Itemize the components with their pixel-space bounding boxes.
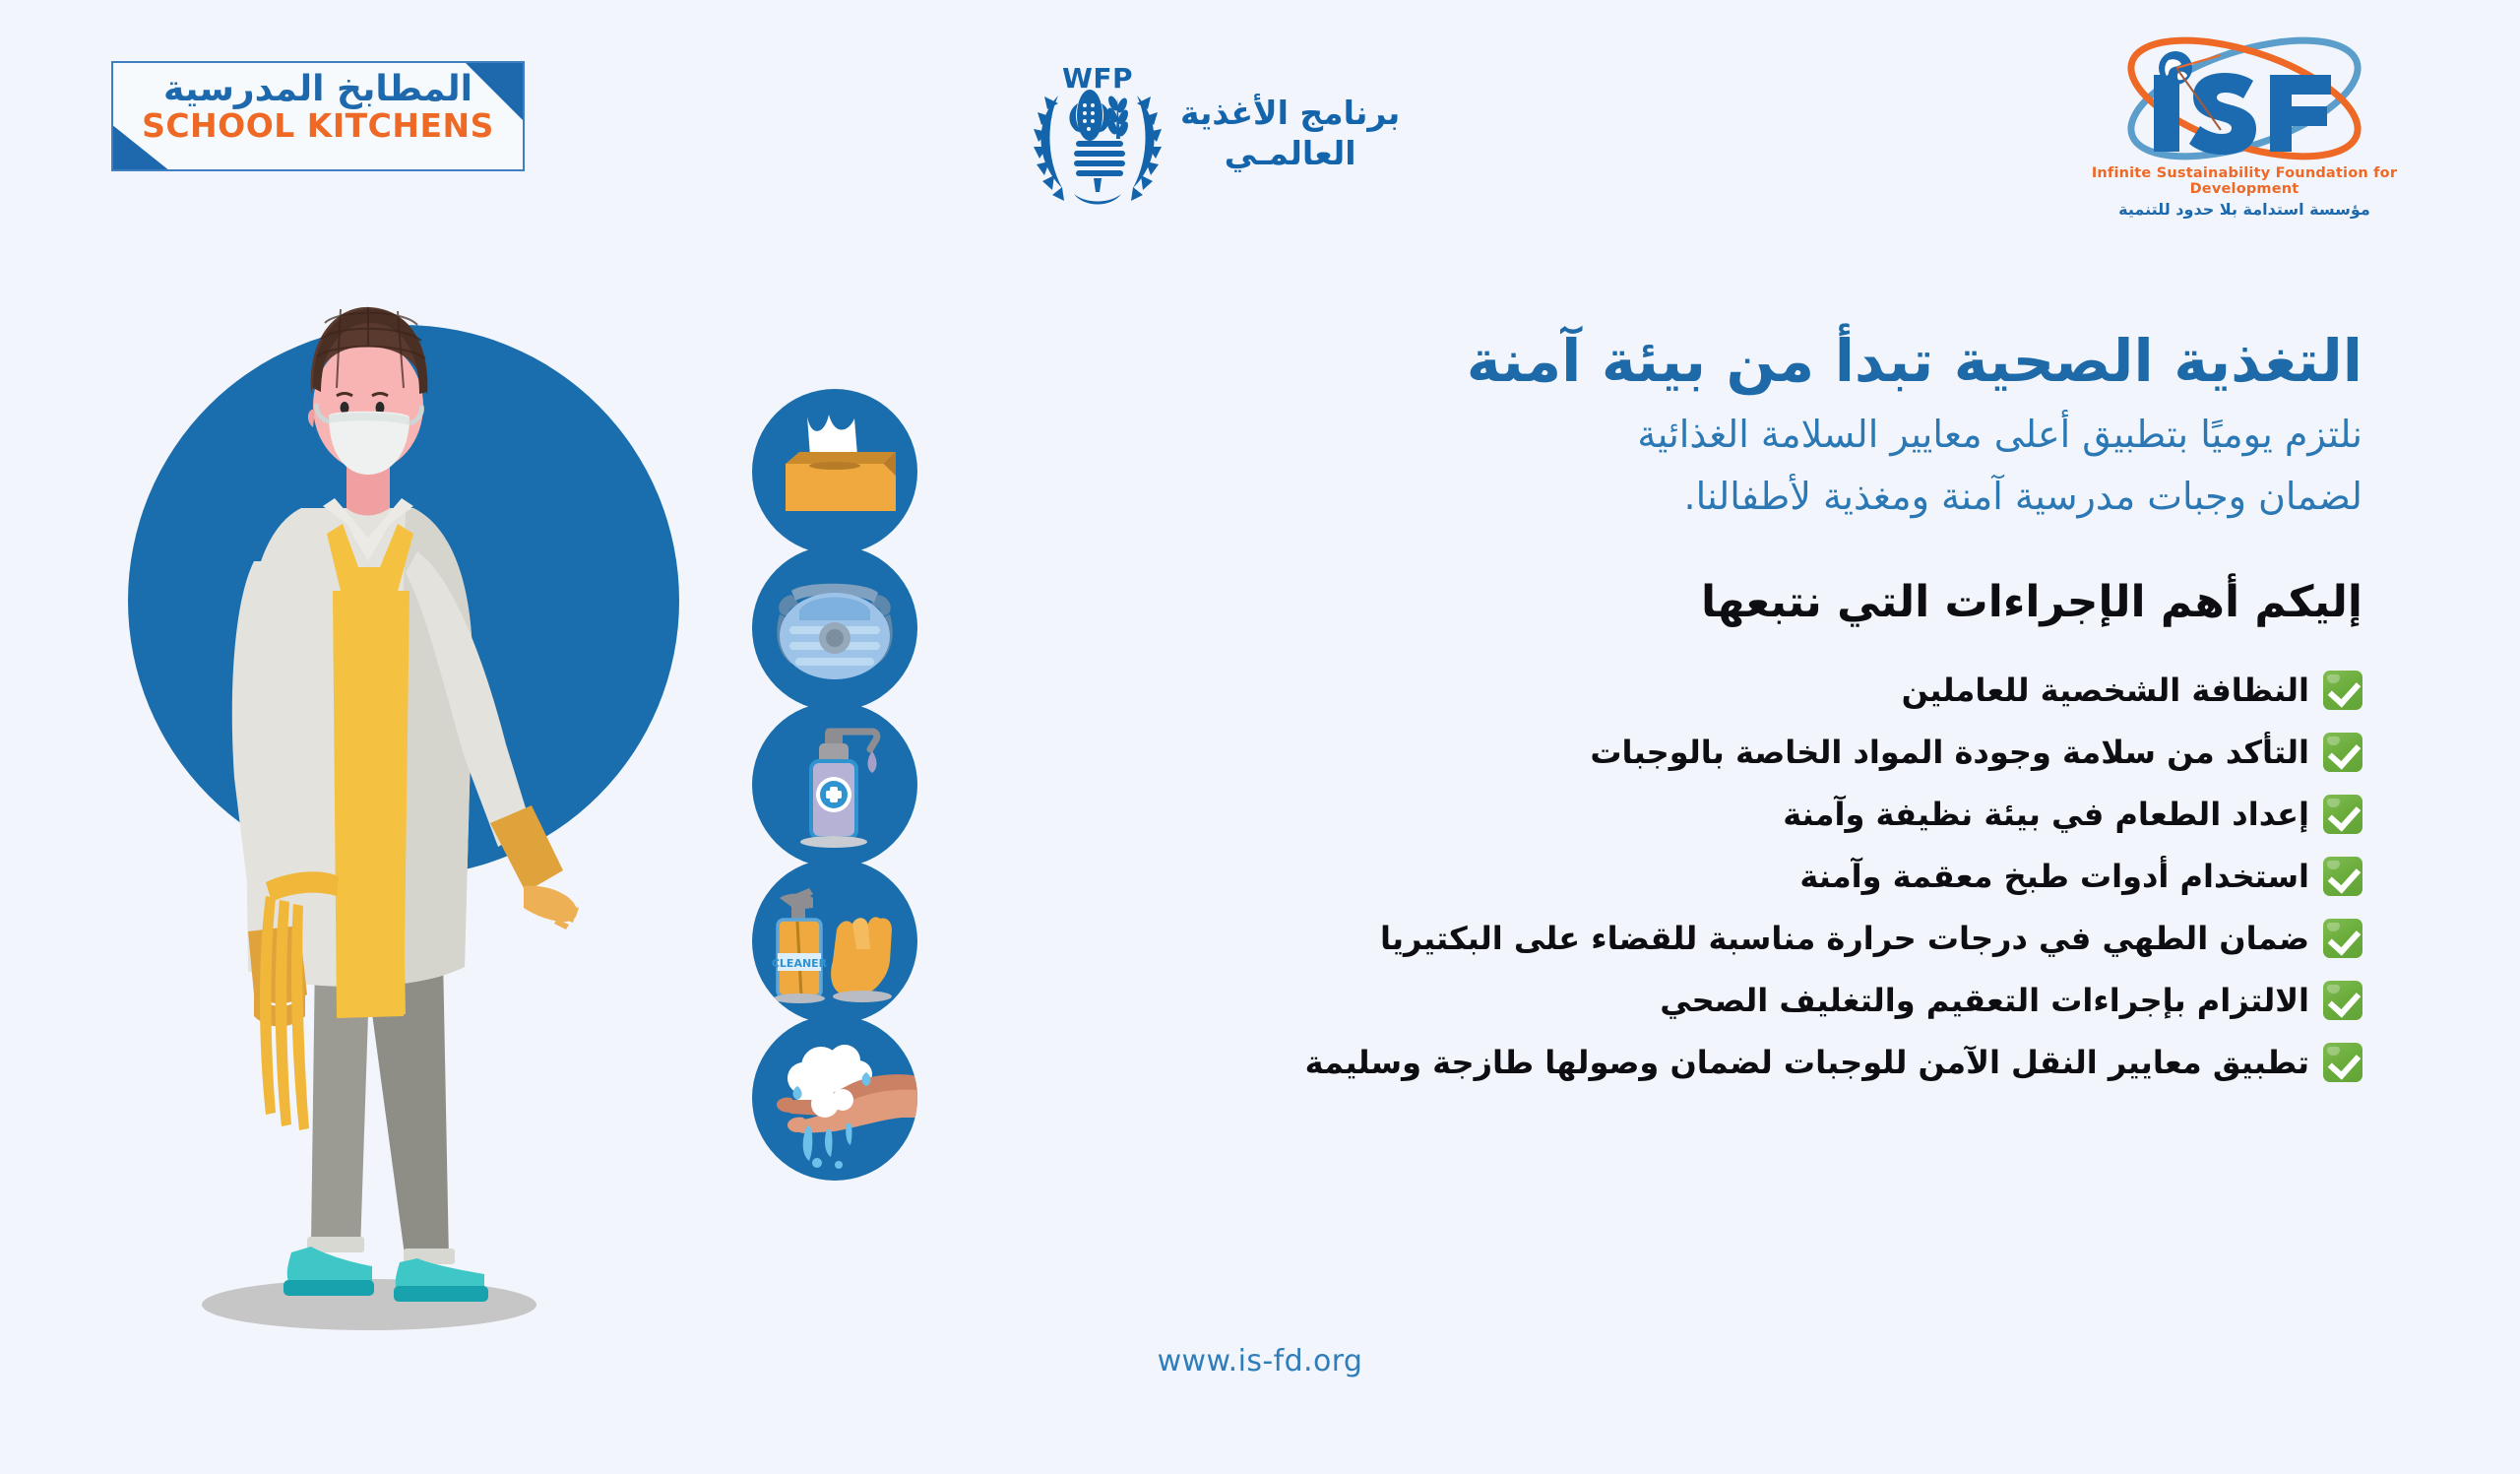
wfp-wordmark: WFP bbox=[1062, 62, 1133, 95]
list-item: تطبيق معايير النقل الآمن للوجبات لضمان و… bbox=[984, 1043, 2362, 1082]
list-item-label: تطبيق معايير النقل الآمن للوجبات لضمان و… bbox=[1305, 1043, 2309, 1082]
list-item-label: الالتزام بإجراءات التعقيم والتغليف الصحي bbox=[1660, 981, 2309, 1020]
check-icon bbox=[2323, 857, 2362, 896]
subtitle-line-2: لضمان وجبات مدرسية آمنة ومغذية لأطفالنا. bbox=[984, 468, 2362, 526]
check-icon bbox=[2323, 733, 2362, 772]
list-item-label: إعداد الطعام في بيئة نظيفة وآمنة bbox=[1783, 795, 2309, 834]
list-item: الالتزام بإجراءات التعقيم والتغليف الصحي bbox=[984, 981, 2362, 1020]
section-title: إليكم أهم الإجراءات التي نتبعها bbox=[984, 577, 2362, 627]
kitchen-worker-illustration bbox=[118, 266, 748, 1349]
school-kitchens-text: المطابخ المدرسية SCHOOL KITCHENS bbox=[113, 63, 523, 144]
wfp-emblem-icon: WFP bbox=[1029, 54, 1166, 212]
wfp-arabic-line-2: العالمـي bbox=[1180, 133, 1400, 173]
school-kitchens-logo: المطابخ المدرسية SCHOOL KITCHENS bbox=[111, 61, 525, 171]
isf-english-tagline: Infinite Sustainability Foundation for D… bbox=[2077, 165, 2412, 197]
list-item: التأكد من سلامة وجودة المواد الخاصة بالو… bbox=[984, 733, 2362, 772]
cleaner-spray-and-gloves-icon: CLEANER bbox=[752, 859, 917, 1024]
list-item-label: ضمان الطهي في درجات حرارة مناسبة للقضاء … bbox=[1380, 919, 2309, 958]
check-icon bbox=[2323, 1043, 2362, 1082]
logo-bar: المطابخ المدرسية SCHOOL KITCHENS WFP bbox=[0, 0, 2520, 256]
check-icon bbox=[2323, 919, 2362, 958]
check-icon bbox=[2323, 795, 2362, 834]
respirator-mask-icon bbox=[752, 545, 917, 711]
page-title: التغذية الصحية تبدأ من بيئة آمنة bbox=[984, 325, 2362, 398]
content-column: التغذية الصحية تبدأ من بيئة آمنة نلتزم ي… bbox=[984, 325, 2362, 1105]
svg-text:CLEANER: CLEANER bbox=[772, 957, 828, 970]
hygiene-icon-column: CLEANER bbox=[740, 389, 917, 1172]
wfp-arabic-line-1: برنامج الأغذية bbox=[1180, 93, 1400, 133]
hand-sanitizer-bottle-icon bbox=[752, 702, 917, 867]
tissue-box-icon bbox=[752, 389, 917, 554]
subtitle-line-1: نلتزم يوميًا بتطبيق أعلى معايير السلامة … bbox=[984, 406, 2362, 464]
check-icon bbox=[2323, 981, 2362, 1020]
list-item-label: التأكد من سلامة وجودة المواد الخاصة بالو… bbox=[1590, 733, 2309, 772]
isf-arabic-tagline: مؤسسة استدامة بلا حدود للتنمية bbox=[2077, 200, 2412, 219]
list-item: النظافة الشخصية للعاملين bbox=[984, 671, 2362, 710]
wfp-logo: WFP bbox=[1029, 49, 1442, 217]
wfp-arabic-name: برنامج الأغذية العالمـي bbox=[1180, 93, 1400, 174]
poster-root: المطابخ المدرسية SCHOOL KITCHENS WFP bbox=[0, 0, 2520, 1474]
list-item: ضمان الطهي في درجات حرارة مناسبة للقضاء … bbox=[984, 919, 2362, 958]
school-kitchens-english: SCHOOL KITCHENS bbox=[113, 109, 523, 144]
list-item-label: استخدام أدوات طبخ معقمة وآمنة bbox=[1799, 857, 2309, 896]
isf-mark-icon bbox=[2077, 35, 2412, 163]
website-url[interactable]: www.is-fd.org bbox=[0, 1344, 2520, 1378]
check-icon bbox=[2323, 671, 2362, 710]
list-item: استخدام أدوات طبخ معقمة وآمنة bbox=[984, 857, 2362, 896]
school-kitchens-arabic: المطابخ المدرسية bbox=[113, 69, 523, 109]
list-item: إعداد الطعام في بيئة نظيفة وآمنة bbox=[984, 795, 2362, 834]
isf-logo: Infinite Sustainability Foundation for D… bbox=[2077, 35, 2412, 223]
handwashing-icon bbox=[752, 1015, 917, 1181]
list-item-label: النظافة الشخصية للعاملين bbox=[1902, 671, 2309, 710]
procedures-checklist: النظافة الشخصية للعاملين التأكد من سلامة… bbox=[984, 671, 2362, 1082]
